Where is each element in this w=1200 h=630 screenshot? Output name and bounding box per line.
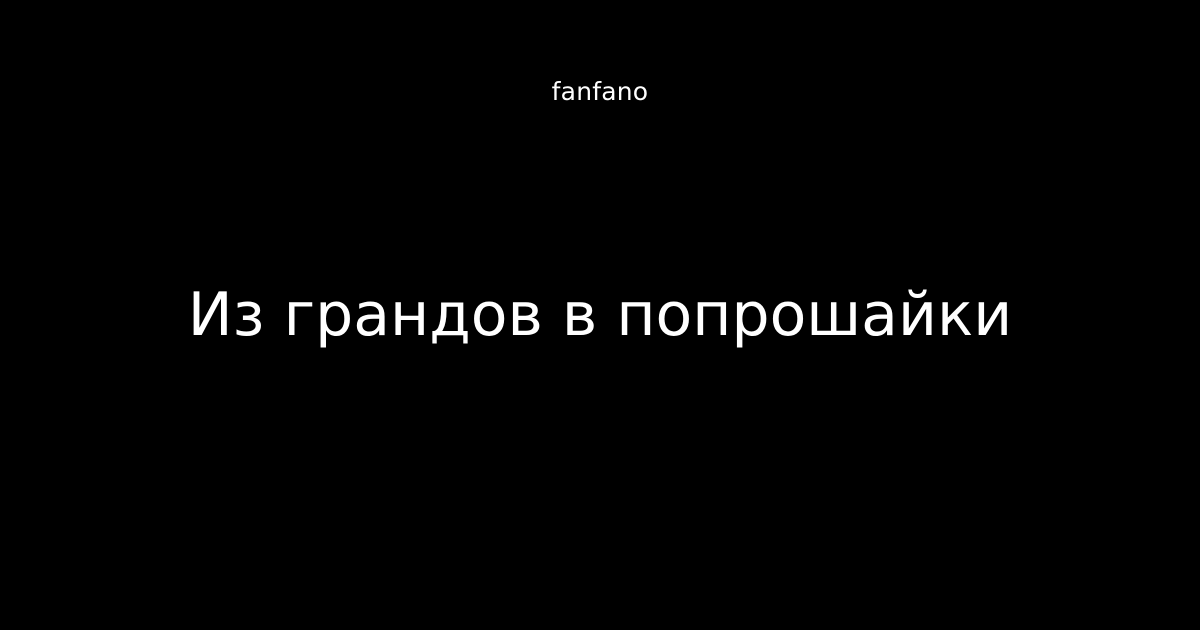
headline-title: Из грандов в попрошайки <box>70 278 1130 352</box>
share-card: fanfano Из грандов в попрошайки <box>0 0 1200 630</box>
site-name: fanfano <box>0 76 1200 108</box>
